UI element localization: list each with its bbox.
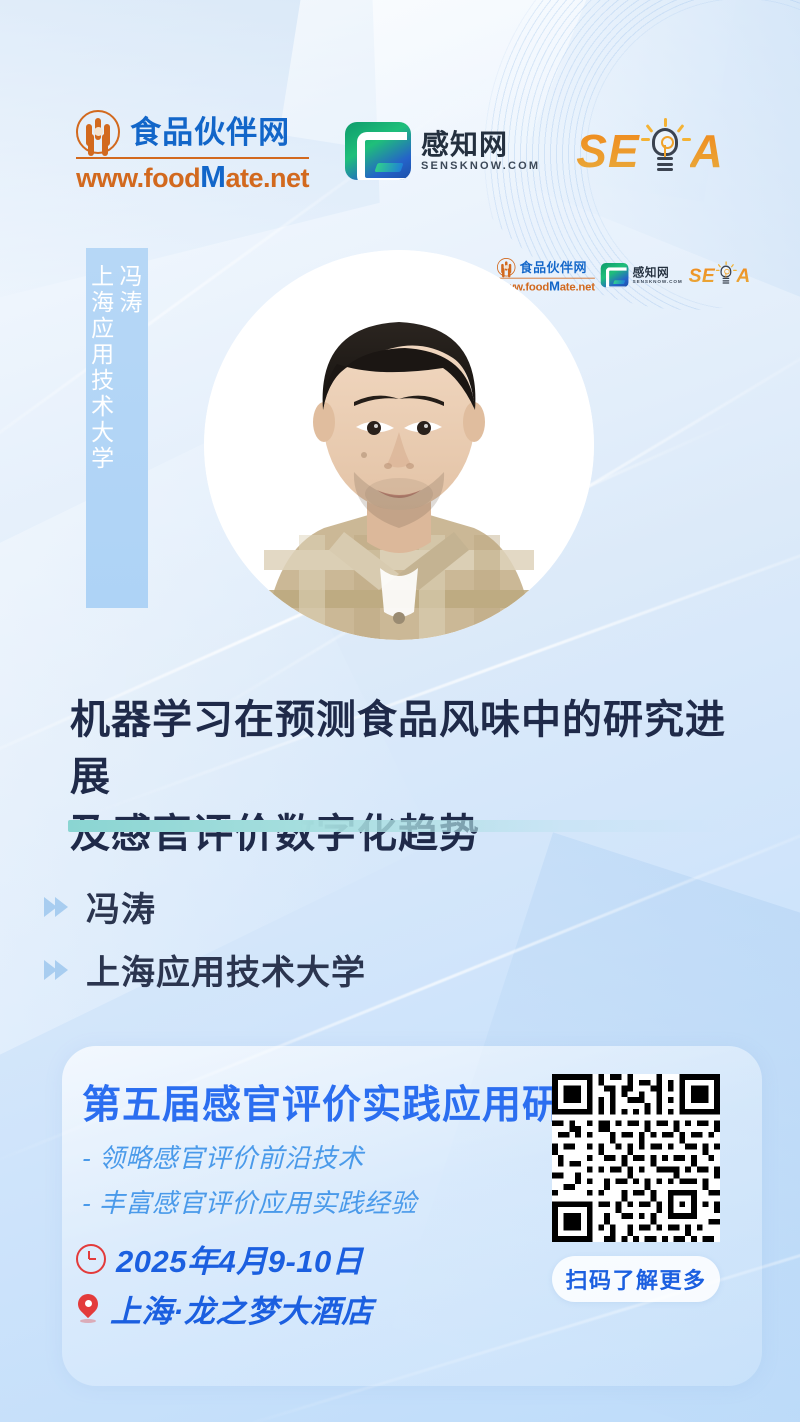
speaker-name: 冯涛: [86, 882, 156, 931]
event-date: 2025年4月9-10日: [116, 1236, 363, 1281]
watermark-sensknow-logo: 感知网 SENSKNOW.COM: [601, 263, 683, 287]
speaker-vertical-banner: 冯涛 上海应用技术大学: [86, 248, 148, 608]
watermark-sensknow-cn-name: 感知网: [633, 267, 683, 279]
talk-title: 机器学习在预测食品风味中的研究进展 及感官评价数字化趋势: [70, 692, 750, 862]
watermark-foodmate-flower-icon: [497, 258, 515, 276]
speaker-affiliation-row: 上海应用技术大学: [44, 945, 366, 994]
foodmate-url-post: ate.net: [225, 163, 309, 193]
foodmate-cn-name: 食品伙伴网: [130, 117, 290, 148]
foodmate-logo: 食品伙伴网 www.foodMate.net: [76, 110, 309, 192]
watermark-sensknow-en-name: SENSKNOW.COM: [633, 279, 683, 284]
wm-url-post: ate.net: [560, 280, 595, 293]
speaker-portrait-photo: [204, 250, 594, 640]
watermark-logo-row: 食品伙伴网 www.foodMate.net 感知网 SENSKNOW.COM …: [497, 258, 751, 292]
chevron-double-right-icon: [44, 897, 68, 917]
location-pin-icon: [76, 1294, 100, 1324]
banner-speaker-affiliation: 上海应用技术大学: [87, 264, 113, 608]
title-divider: [68, 820, 728, 832]
poster-root: 食品伙伴网 www.foodMate.net 感知网 SENSKNOW.COM …: [0, 0, 800, 1422]
foodmate-flower-icon: [76, 110, 120, 154]
watermark-foodmate-cn-name: 食品伙伴网: [520, 261, 587, 274]
qr-cta-button[interactable]: 扫码了解更多: [552, 1256, 720, 1302]
foodmate-url-pre: www.food: [76, 163, 200, 193]
event-location-row: 上海·龙之梦大酒店: [76, 1286, 373, 1331]
qr-section: 扫码了解更多: [552, 1074, 720, 1302]
lightbulb-icon: [644, 124, 686, 178]
chevron-double-right-icon-2: [44, 960, 68, 980]
watermark-lightbulb-icon: [717, 264, 735, 287]
clock-icon: [76, 1244, 106, 1274]
sepa-text-left: SE: [576, 128, 639, 174]
talk-title-line1: 机器学习在预测食品风味中的研究进展: [70, 692, 750, 806]
watermark-sepa-text-left: SE: [689, 266, 716, 285]
header-logo-row: 食品伙伴网 www.foodMate.net 感知网 SENSKNOW.COM …: [0, 96, 800, 206]
talk-title-line2: 及感官评价数字化趋势: [70, 806, 750, 863]
speaker-name-row: 冯涛: [44, 882, 156, 931]
sensknow-en-name: SENSKNOW.COM: [421, 160, 540, 172]
sepa-logo: SE A: [576, 124, 724, 178]
sensknow-cz-icon: [345, 122, 411, 180]
foodmate-url-m: M: [200, 159, 225, 194]
sensknow-cn-name: 感知网: [421, 130, 540, 159]
speaker-affiliation: 上海应用技术大学: [86, 945, 366, 994]
banner-speaker-name: 冯涛: [116, 264, 142, 608]
event-info-card: 第五届感官评价实践应用研讨会 - 领略感官评价前沿技术 - 丰富感官评价应用实践…: [62, 1046, 762, 1386]
watermark-sensknow-cz-icon: [601, 263, 629, 287]
sensknow-logo: 感知网 SENSKNOW.COM: [345, 122, 540, 180]
qr-code-image[interactable]: [552, 1074, 720, 1242]
event-location: 上海·龙之梦大酒店: [110, 1286, 373, 1331]
foodmate-url: www.foodMate.net: [76, 157, 309, 192]
event-date-row: 2025年4月9-10日: [76, 1236, 363, 1281]
watermark-sepa-text-right: A: [736, 266, 750, 285]
wm-url-m: M: [549, 279, 560, 294]
event-bullet-1: - 领略感官评价前沿技术: [82, 1138, 364, 1175]
watermark-sepa-logo: SE A: [689, 264, 751, 287]
event-bullet-2: - 丰富感官评价应用实践经验: [82, 1183, 417, 1220]
sepa-text-right: A: [690, 128, 724, 174]
